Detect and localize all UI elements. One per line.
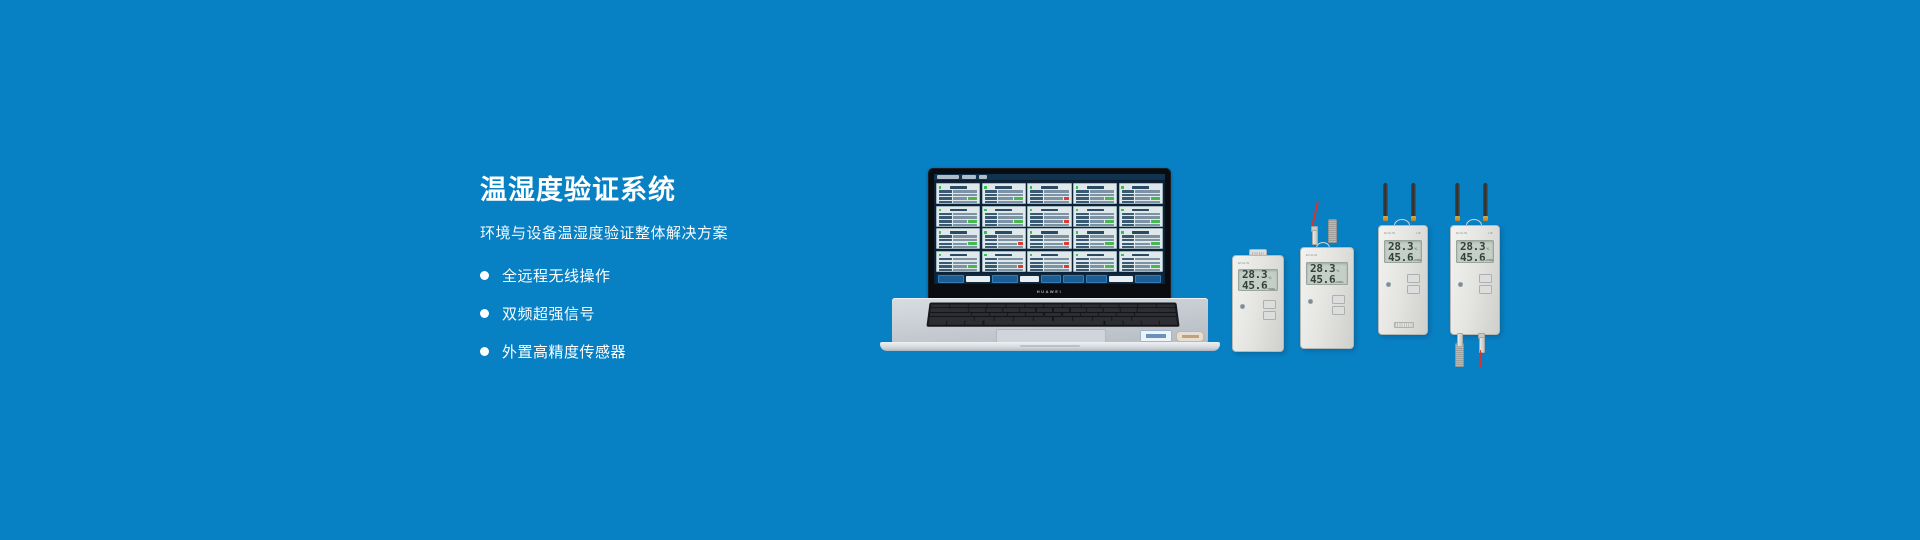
card-field-label xyxy=(1076,239,1089,242)
card-title xyxy=(1041,231,1058,234)
card-field-label xyxy=(939,235,952,238)
card-field-label xyxy=(939,262,952,265)
card-title xyxy=(1087,231,1104,234)
probe-sensor-mesh xyxy=(1328,219,1337,243)
card-field-row xyxy=(1122,258,1160,261)
card-status-led-icon xyxy=(1121,186,1124,189)
logger-device-group: ENGIN 28.3 ℃ 45.6 %RH xyxy=(1232,185,1532,400)
card-field-label xyxy=(1076,235,1089,238)
card-status-led-icon xyxy=(939,186,942,189)
device-button-down[interactable] xyxy=(1263,311,1276,320)
lcd-indicator-bar xyxy=(1332,282,1344,284)
monitor-card[interactable] xyxy=(1119,183,1163,204)
key xyxy=(972,313,989,316)
card-status-led-icon xyxy=(1030,254,1033,257)
key xyxy=(1087,309,1103,312)
card-field-label xyxy=(1122,258,1135,261)
monitor-card[interactable] xyxy=(936,183,980,204)
card-field-row xyxy=(1030,224,1068,227)
laptop-bezel-chin: HUAWEI xyxy=(929,284,1170,299)
card-field-row xyxy=(1030,213,1068,216)
key xyxy=(1123,321,1140,325)
card-field-label xyxy=(985,220,998,223)
card-field-label xyxy=(985,246,998,249)
card-title xyxy=(1041,209,1058,212)
card-field-row xyxy=(985,269,1023,272)
monitor-card[interactable] xyxy=(1027,183,1071,204)
card-field-row xyxy=(939,235,977,238)
screen-button[interactable] xyxy=(1109,276,1133,282)
status-badge-ok xyxy=(1105,265,1114,268)
key xyxy=(1138,304,1156,307)
card-field-value xyxy=(998,239,1023,242)
card-field-label xyxy=(985,265,998,268)
card-field-value xyxy=(998,224,1023,227)
key xyxy=(1003,309,1019,312)
monitor-card[interactable] xyxy=(1073,228,1117,249)
key xyxy=(1105,321,1122,325)
card-field-label xyxy=(985,224,998,227)
card-field-row xyxy=(939,258,977,261)
key xyxy=(988,304,1006,307)
humidity-value: 45.6 xyxy=(1242,280,1267,291)
card-title xyxy=(950,231,967,234)
card-field-value xyxy=(998,194,1023,197)
card-field-label xyxy=(1030,235,1043,238)
card-title xyxy=(1132,254,1149,257)
antenna-connector xyxy=(1411,216,1417,221)
monitor-card[interactable] xyxy=(936,228,980,249)
monitor-card[interactable] xyxy=(1027,251,1071,272)
card-field-label xyxy=(1076,216,1089,219)
card-field-value xyxy=(953,235,978,238)
card-field-value xyxy=(1135,262,1160,265)
card-field-row xyxy=(985,190,1023,193)
card-field-value xyxy=(1044,265,1063,268)
card-status-led-icon xyxy=(1030,209,1033,212)
card-title xyxy=(1132,186,1149,189)
card-field-value xyxy=(1044,197,1063,200)
card-field-value xyxy=(1090,246,1115,249)
monitor-card[interactable] xyxy=(1027,206,1071,227)
card-field-row xyxy=(985,216,1023,219)
card-field-value xyxy=(1135,213,1160,216)
monitor-card[interactable] xyxy=(936,251,980,272)
card-field-row xyxy=(1122,243,1160,246)
card-title xyxy=(1132,231,1149,234)
card-field-row xyxy=(1122,265,1160,268)
card-field-value xyxy=(1090,201,1115,204)
status-badge-alarm xyxy=(1064,265,1069,268)
card-field-label xyxy=(1076,213,1089,216)
device-button-down[interactable] xyxy=(1332,306,1345,315)
card-field-row xyxy=(1122,201,1160,204)
card-field-value xyxy=(953,239,978,242)
card-field-row xyxy=(1122,194,1160,197)
page-subtitle: 环境与设备温湿度验证整体解决方案 xyxy=(480,222,900,243)
card-field-row xyxy=(1076,243,1114,246)
card-field-value xyxy=(1135,197,1150,200)
card-field-value xyxy=(1044,262,1069,265)
card-field-row xyxy=(1076,262,1114,265)
card-field-row xyxy=(1030,194,1068,197)
screen-pager[interactable] xyxy=(1063,275,1084,283)
card-field-row xyxy=(1122,235,1160,238)
card-field-value xyxy=(1044,194,1069,197)
monitor-card[interactable] xyxy=(1119,228,1163,249)
keyboard-row xyxy=(930,313,1176,316)
feature-label: 全远程无线操作 xyxy=(502,265,611,286)
laptop-sticker-gold xyxy=(1176,331,1204,342)
antenna-rod xyxy=(1483,183,1488,217)
card-field-value xyxy=(998,220,1013,223)
card-title xyxy=(1041,254,1058,257)
card-field-row xyxy=(1076,224,1114,227)
status-led-icon xyxy=(1308,299,1313,304)
key xyxy=(1014,317,1033,321)
toolbar-item xyxy=(979,175,987,179)
key xyxy=(929,321,947,325)
device-button-up[interactable] xyxy=(1332,295,1345,304)
lcd-indicator-bar xyxy=(1263,288,1274,290)
status-badge-ok xyxy=(1105,220,1114,223)
card-status-led-icon xyxy=(1121,209,1124,212)
card-field-row xyxy=(939,220,977,223)
card-field-label xyxy=(1030,269,1043,272)
card-field-row xyxy=(985,239,1023,242)
card-field-value xyxy=(1135,239,1160,242)
card-field-label xyxy=(1122,269,1135,272)
card-field-label xyxy=(1076,194,1089,197)
antenna-rod xyxy=(1455,183,1460,217)
card-field-value xyxy=(1044,269,1069,272)
card-field-label xyxy=(1122,262,1135,265)
card-field-row xyxy=(1030,243,1068,246)
device-button-up[interactable] xyxy=(1407,274,1420,283)
card-field-label xyxy=(939,213,952,216)
device-button-up[interactable] xyxy=(1479,274,1492,283)
card-field-row xyxy=(1076,197,1114,200)
card-field-value xyxy=(998,246,1023,249)
card-field-row xyxy=(939,262,977,265)
card-field-label xyxy=(1030,201,1043,204)
card-field-row xyxy=(985,262,1023,265)
key xyxy=(1157,304,1175,307)
monitor-card[interactable] xyxy=(936,206,980,227)
card-field-value xyxy=(1090,213,1115,216)
key xyxy=(1119,304,1137,307)
product-banner: 温湿度验证系统 环境与设备温湿度验证整体解决方案 全远程无线操作 双频超强信号 … xyxy=(0,0,1920,540)
card-title xyxy=(995,254,1012,257)
card-field-label xyxy=(1076,258,1089,261)
key xyxy=(1063,304,1081,307)
card-field-row xyxy=(939,224,977,227)
keyboard-row xyxy=(929,321,1178,325)
card-status-led-icon xyxy=(1076,231,1079,234)
card-field-row xyxy=(1030,269,1068,272)
key xyxy=(1099,313,1116,316)
lcd-temperature-row: 28.3 ℃ xyxy=(1388,241,1418,252)
key xyxy=(1132,317,1177,321)
monitor-card[interactable] xyxy=(1119,251,1163,272)
card-field-row xyxy=(1076,201,1114,204)
screen-button[interactable] xyxy=(1020,276,1039,282)
card-title xyxy=(950,254,967,257)
key xyxy=(1044,304,1062,307)
lcd-humidity-row: 45.6 %RH xyxy=(1242,280,1274,291)
card-field-value xyxy=(1135,201,1160,204)
card-field-row xyxy=(1030,239,1068,242)
card-field-row xyxy=(985,194,1023,197)
key xyxy=(930,309,968,312)
temperature-value: 28.3 xyxy=(1460,241,1485,252)
card-field-row xyxy=(1030,258,1068,261)
card-field-value xyxy=(1044,201,1069,204)
status-badge-alarm xyxy=(1064,242,1069,245)
key xyxy=(994,317,1013,321)
key xyxy=(965,321,982,325)
card-field-row xyxy=(1076,269,1114,272)
monitor-card[interactable] xyxy=(1119,206,1163,227)
card-status-led-icon xyxy=(984,231,987,234)
card-field-value xyxy=(998,197,1013,200)
card-field-label xyxy=(1122,246,1135,249)
key xyxy=(1082,304,1100,307)
status-led-icon xyxy=(1458,282,1463,287)
card-field-row xyxy=(1122,262,1160,265)
card-field-row xyxy=(985,235,1023,238)
monitor-card-grid xyxy=(936,183,1163,272)
card-field-label xyxy=(939,243,952,246)
key xyxy=(931,304,949,307)
monitor-card[interactable] xyxy=(982,228,1026,249)
card-field-row xyxy=(939,190,977,193)
card-field-row xyxy=(985,224,1023,227)
screen-exit-button[interactable] xyxy=(1135,275,1161,283)
card-field-label xyxy=(939,239,952,242)
card-field-row xyxy=(939,201,977,204)
card-status-led-icon xyxy=(984,209,987,212)
card-field-label xyxy=(1076,246,1089,249)
lcd-indicator-bar xyxy=(1479,260,1490,262)
key xyxy=(1054,317,1073,321)
key xyxy=(1045,313,1062,316)
card-field-label xyxy=(1122,265,1135,268)
card-field-row xyxy=(1076,258,1114,261)
device-button-up[interactable] xyxy=(1263,300,1276,309)
card-field-label xyxy=(1122,197,1135,200)
feature-label: 双频超强信号 xyxy=(502,303,595,324)
lcd-temperature-row: 28.3 ℃ xyxy=(1310,263,1344,274)
card-field-row xyxy=(1076,194,1114,197)
status-led-icon xyxy=(1240,304,1245,309)
card-field-label xyxy=(985,262,998,265)
status-badge-ok xyxy=(968,197,977,200)
lcd-indicator-bar xyxy=(1407,260,1418,262)
key xyxy=(1025,304,1043,307)
monitor-card[interactable] xyxy=(1073,183,1117,204)
feature-label: 外置高精度传感器 xyxy=(502,341,626,362)
card-field-row xyxy=(939,216,977,219)
key xyxy=(969,304,987,307)
card-field-value xyxy=(998,216,1023,219)
status-badge-alarm xyxy=(1018,242,1023,245)
card-field-label xyxy=(939,224,952,227)
card-field-row xyxy=(985,220,1023,223)
card-status-led-icon xyxy=(939,209,942,212)
card-field-value xyxy=(1044,246,1069,249)
key xyxy=(1020,309,1036,312)
card-field-row xyxy=(1122,246,1160,249)
card-field-row xyxy=(1030,235,1068,238)
monitor-card[interactable] xyxy=(982,206,1026,227)
card-status-led-icon xyxy=(1076,186,1079,189)
card-field-value xyxy=(1044,243,1063,246)
card-field-label xyxy=(1030,265,1043,268)
device-button-down[interactable] xyxy=(1479,285,1492,294)
key xyxy=(975,317,994,321)
card-field-row xyxy=(1122,269,1160,272)
card-title xyxy=(950,209,967,212)
card-field-row xyxy=(939,246,977,249)
card-field-row xyxy=(939,239,977,242)
card-title xyxy=(995,209,1012,212)
card-field-row xyxy=(985,197,1023,200)
card-field-value xyxy=(998,190,1023,193)
status-badge-ok xyxy=(1014,197,1023,200)
key xyxy=(950,304,968,307)
card-field-row xyxy=(1122,213,1160,216)
card-field-label xyxy=(985,201,998,204)
card-field-value xyxy=(998,235,1023,238)
card-title xyxy=(1087,209,1104,212)
card-field-row xyxy=(1122,216,1160,219)
laptop-palmrest xyxy=(892,298,1208,346)
card-title xyxy=(1087,254,1104,257)
card-field-value xyxy=(953,269,978,272)
card-field-row xyxy=(1076,190,1114,193)
card-status-led-icon xyxy=(939,254,942,257)
card-field-label xyxy=(939,269,952,272)
card-field-label xyxy=(1122,216,1135,219)
card-field-label xyxy=(1030,197,1043,200)
card-field-label xyxy=(1030,246,1043,249)
card-field-row xyxy=(1030,246,1068,249)
card-field-value xyxy=(1135,269,1160,272)
laptop-open-notch xyxy=(1020,345,1080,347)
key xyxy=(1034,317,1053,321)
probe-cable xyxy=(1311,201,1318,227)
key xyxy=(986,309,1002,312)
status-badge-ok xyxy=(1151,265,1160,268)
monitor-card[interactable] xyxy=(1027,228,1071,249)
card-field-value xyxy=(1044,235,1069,238)
laptop-screen xyxy=(934,174,1165,284)
card-status-led-icon xyxy=(1030,231,1033,234)
card-field-value xyxy=(1135,190,1160,193)
status-badge-alarm xyxy=(1018,265,1023,268)
temperature-value: 28.3 xyxy=(1310,263,1335,274)
card-field-value xyxy=(1090,216,1115,219)
device-lcd-display: 28.3 ℃ 45.6 %RH xyxy=(1384,240,1422,263)
card-field-row xyxy=(1076,213,1114,216)
card-field-label xyxy=(1030,216,1043,219)
card-title xyxy=(950,186,967,189)
card-field-label xyxy=(1122,190,1135,193)
card-field-row xyxy=(939,197,977,200)
card-field-row xyxy=(985,265,1023,268)
status-badge-ok xyxy=(1014,220,1023,223)
card-field-value xyxy=(998,265,1017,268)
device-body: ENGIN 28.3 ℃ 45.6 %RH xyxy=(1300,247,1354,349)
antenna-rod xyxy=(1383,183,1388,217)
keyboard-row xyxy=(930,309,1175,312)
key xyxy=(947,321,964,325)
card-field-label xyxy=(1030,224,1043,227)
card-field-value xyxy=(953,190,978,193)
screen-button[interactable] xyxy=(966,276,990,282)
card-field-label xyxy=(939,258,952,261)
card-field-label xyxy=(939,190,952,193)
card-field-value xyxy=(1044,216,1069,219)
card-field-value xyxy=(1090,265,1105,268)
temperature-value: 28.3 xyxy=(1388,241,1413,252)
card-field-row xyxy=(1030,262,1068,265)
laptop-keyboard[interactable] xyxy=(926,303,1179,327)
card-field-value xyxy=(1090,235,1115,238)
monitor-card[interactable] xyxy=(982,251,1026,272)
card-field-value xyxy=(953,265,968,268)
card-field-label xyxy=(939,194,952,197)
device-button-down[interactable] xyxy=(1407,285,1420,294)
device-body: ENGIN H8 28.3 ℃ 45.6 %RH xyxy=(1450,225,1500,335)
screen-button[interactable] xyxy=(938,275,964,283)
card-field-label xyxy=(1122,201,1135,204)
status-badge-ok xyxy=(1151,220,1160,223)
screen-pager[interactable] xyxy=(1086,275,1107,283)
card-field-value xyxy=(998,269,1023,272)
monitor-card[interactable] xyxy=(1073,206,1117,227)
card-field-label xyxy=(1076,220,1089,223)
card-field-label xyxy=(985,190,998,193)
laptop-product-image: HUAWEI xyxy=(880,168,1220,373)
card-field-label xyxy=(985,197,998,200)
screen-button[interactable] xyxy=(992,275,1018,283)
status-badge-alarm xyxy=(1064,220,1069,223)
card-field-value xyxy=(1135,258,1160,261)
device-body: ENGIN 28.3 ℃ 45.6 %RH xyxy=(1232,255,1284,352)
screen-pager[interactable] xyxy=(1041,275,1062,283)
monitor-card[interactable] xyxy=(1073,251,1117,272)
card-field-row xyxy=(1122,220,1160,223)
card-field-value xyxy=(953,201,978,204)
status-badge-ok xyxy=(1105,197,1114,200)
card-field-value xyxy=(998,201,1023,204)
monitor-card[interactable] xyxy=(982,183,1026,204)
card-field-row xyxy=(985,246,1023,249)
probe-stem xyxy=(1312,230,1318,245)
card-field-row xyxy=(1076,235,1114,238)
card-field-value xyxy=(1090,197,1105,200)
device-brand-label: ENGIN xyxy=(1456,231,1468,235)
card-field-value xyxy=(1090,243,1105,246)
card-field-value xyxy=(998,258,1023,261)
card-field-label xyxy=(1076,224,1089,227)
card-field-value xyxy=(1044,239,1069,242)
card-field-label xyxy=(1122,213,1135,216)
card-field-label xyxy=(1076,190,1089,193)
card-field-label xyxy=(1076,265,1089,268)
